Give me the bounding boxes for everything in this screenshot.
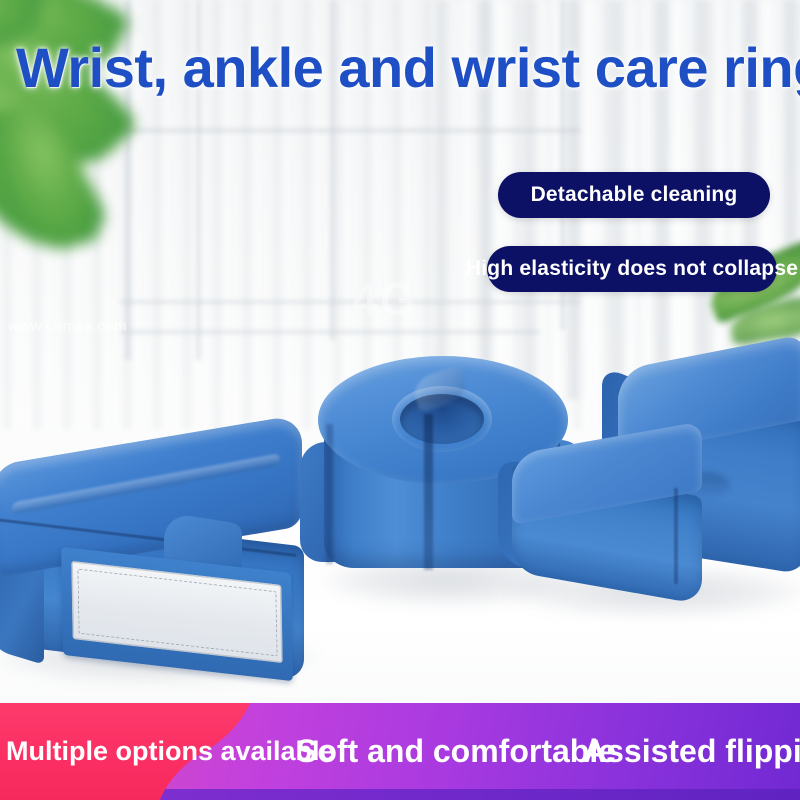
- ring-split-seam: [424, 414, 433, 570]
- product-rectangular-cushion: [0, 440, 326, 680]
- banner-item-multiple-options: Multiple options available: [6, 703, 335, 800]
- banner-item-assisted-flipping: Assisted flipping: [583, 703, 800, 800]
- banner-item-soft-and-comfortable: Soft and comfortable: [296, 703, 616, 800]
- product-group: [0, 0, 800, 800]
- ring-split-seam-left: [326, 424, 333, 564]
- bottom-feature-banner: Multiple options available Soft and comf…: [0, 703, 800, 800]
- product-poster: 4G www.cnmox.com Wrist, ankle and wrist …: [0, 0, 800, 800]
- step-seam: [674, 488, 678, 585]
- product-step-cushion: [506, 352, 800, 602]
